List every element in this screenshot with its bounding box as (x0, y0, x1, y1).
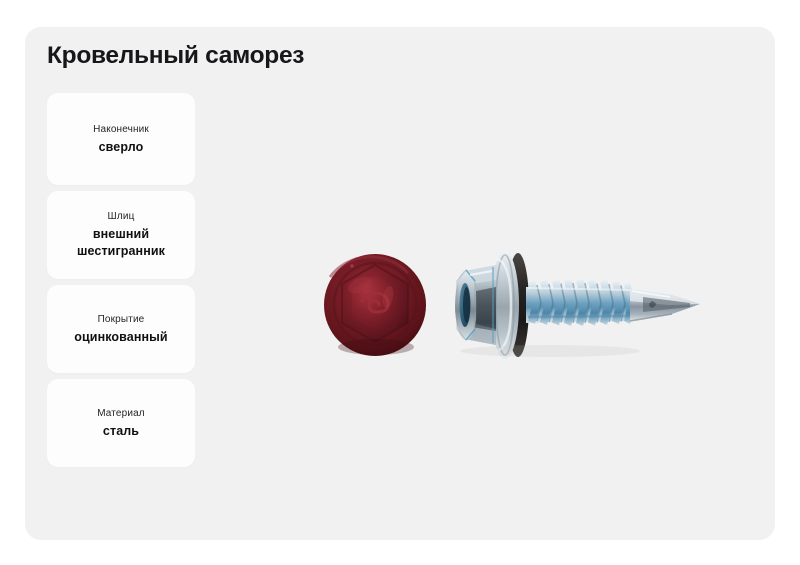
page-title: Кровельный саморез (47, 42, 304, 70)
painted-hex-head-top-view (324, 254, 426, 356)
spec-value: сталь (103, 423, 139, 440)
product-image-group (300, 225, 730, 390)
spec-value: оцинкованный (74, 329, 167, 346)
hex-head (455, 265, 496, 345)
screenshot-root: Кровельный саморез Наконечник сверло Шли… (0, 0, 800, 565)
spec-card-slot[interactable]: Шлиц внешний шестигранник (47, 191, 195, 279)
galvanized-self-drilling-screw (455, 251, 700, 359)
product-illustration (300, 225, 730, 390)
spec-value: сверло (99, 139, 144, 156)
spec-value: внешний шестигранник (56, 226, 186, 260)
spec-card-tip[interactable]: Наконечник сверло (47, 93, 195, 185)
spec-label: Покрытие (98, 313, 145, 326)
spec-label: Шлиц (108, 210, 135, 223)
spec-label: Наконечник (93, 123, 149, 136)
spec-card-coating[interactable]: Покрытие оцинкованный (47, 285, 195, 373)
specification-list: Наконечник сверло Шлиц внешний шестигран… (47, 93, 195, 467)
spec-label: Материал (97, 407, 145, 420)
drill-point-tip (630, 289, 700, 321)
spec-card-material[interactable]: Материал сталь (47, 379, 195, 467)
